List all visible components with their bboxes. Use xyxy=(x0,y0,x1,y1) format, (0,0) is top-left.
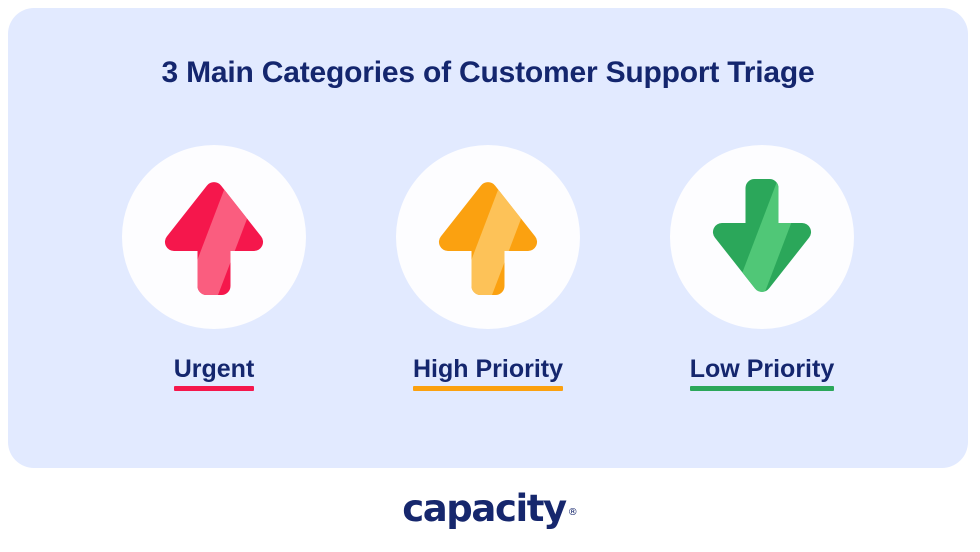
category-low-priority: Low Priority xyxy=(670,145,854,391)
category-label-low-priority-wrap: Low Priority xyxy=(690,357,834,391)
icon-circle-high-priority xyxy=(396,145,580,329)
arrow-up-icon xyxy=(162,179,266,295)
icon-circle-urgent xyxy=(122,145,306,329)
category-underline-high-priority xyxy=(413,386,563,391)
category-label-high-priority-wrap: High Priority xyxy=(413,357,563,391)
icon-circle-low-priority xyxy=(670,145,854,329)
category-high-priority: High Priority xyxy=(396,145,580,391)
brand-name: capacity xyxy=(402,487,566,530)
infographic-stage: 3 Main Categories of Customer Support Tr… xyxy=(0,0,980,552)
category-label-low-priority: Low Priority xyxy=(690,357,834,382)
infographic-card: 3 Main Categories of Customer Support Tr… xyxy=(8,8,968,468)
arrow-up-icon xyxy=(436,179,540,295)
arrow-down-icon xyxy=(710,179,814,295)
categories-row: Urgent xyxy=(8,145,968,391)
page-title: 3 Main Categories of Customer Support Tr… xyxy=(8,56,968,90)
registered-trademark-icon: ® xyxy=(568,507,578,518)
category-label-high-priority: High Priority xyxy=(413,357,563,382)
category-label-urgent: Urgent xyxy=(174,357,255,382)
category-label-urgent-wrap: Urgent xyxy=(174,357,255,391)
category-underline-urgent xyxy=(174,386,255,391)
category-urgent: Urgent xyxy=(122,145,306,391)
brand-logo: capacity® xyxy=(0,487,980,530)
category-underline-low-priority xyxy=(690,386,834,391)
